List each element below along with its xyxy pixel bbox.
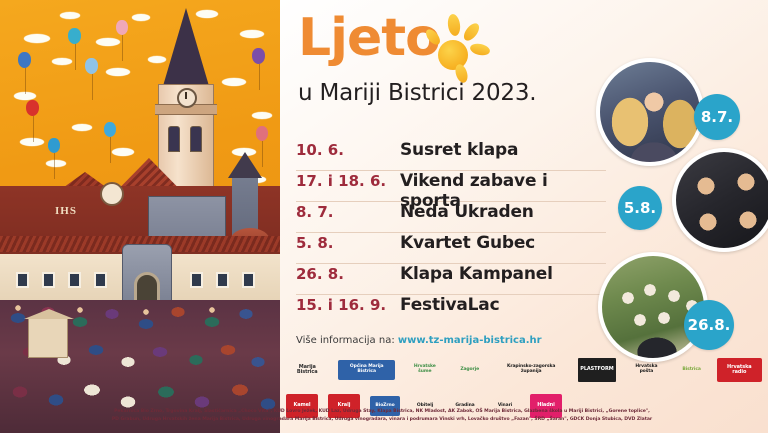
cloud-icon xyxy=(132,14,150,21)
list-item[interactable]: 26. 8. Klapa Kampanel xyxy=(296,264,606,295)
ihs-monogram: IHS xyxy=(55,205,77,217)
event-date: 17. i 18. 6. xyxy=(296,172,400,190)
tower-window xyxy=(168,126,180,152)
photo-kvartet-gubec xyxy=(672,148,768,252)
building-window xyxy=(216,272,229,288)
cloud-icon xyxy=(240,30,264,38)
sun-ray xyxy=(423,27,442,47)
poster-header: Ljeto u Mariji Bistrici 2023. xyxy=(298,12,628,106)
date-badge-kvartet-gubec: 5.8. xyxy=(618,186,662,230)
event-title: Klapa Kampanel xyxy=(400,264,553,284)
balloon-icon xyxy=(116,20,128,35)
balloon-icon xyxy=(18,52,31,68)
list-item[interactable]: 17. i 18. 6. Vikend zabave i sporta xyxy=(296,171,606,202)
cloud-icon xyxy=(24,34,50,43)
more-info-label: Više informacija na: xyxy=(296,335,395,346)
sponsor-logo[interactable]: Hrvatska radio xyxy=(717,358,762,382)
event-date: 10. 6. xyxy=(296,141,400,159)
date-badge-klapa-kampanel: 26.8. xyxy=(684,300,734,350)
building-window xyxy=(190,272,203,288)
event-date: 5. 8. xyxy=(296,234,400,252)
event-title: Susret klapa xyxy=(400,140,518,160)
sponsors-fineprint: Pekarnica Bio Zrno, Trgovina Kralj, Slas… xyxy=(2,408,762,424)
cloud-icon xyxy=(106,68,130,76)
cloud-icon xyxy=(60,12,80,19)
balloon-icon xyxy=(26,100,39,116)
sponsor-logo-row-primary: Marija Bistrica Općina Marija Bistrica H… xyxy=(280,352,768,388)
website-link[interactable]: www.tz-marija-bistrica.hr xyxy=(398,335,542,346)
balloon-icon xyxy=(252,48,265,64)
event-date: 15. i 16. 9. xyxy=(296,296,400,314)
summer-events-poster: IHS Ljeto xyxy=(0,0,768,433)
cloud-icon xyxy=(252,112,272,119)
event-title: FestivaLac xyxy=(400,295,499,315)
page-title: Ljeto xyxy=(298,12,440,64)
tower-window xyxy=(190,126,202,152)
list-item[interactable]: 15. i 16. 9. FestivaLac xyxy=(296,295,606,325)
events-list: 10. 6. Susret klapa 17. i 18. 6. Vikend … xyxy=(296,140,606,325)
sponsor-logo[interactable]: PLASTFORM xyxy=(578,358,617,382)
building-window xyxy=(42,272,55,288)
clock-face-icon xyxy=(177,88,197,108)
rose-window-icon xyxy=(100,182,124,206)
cloud-icon xyxy=(96,38,120,46)
event-date: 26. 8. xyxy=(296,265,400,283)
balloon-icon xyxy=(68,28,81,44)
event-date: 8. 7. xyxy=(296,203,400,221)
date-badge-neda-ukraden: 8.7. xyxy=(694,94,740,140)
building-window xyxy=(16,272,29,288)
artwork-painting: IHS xyxy=(0,0,280,433)
fineprint-line-2: PD Grabun, Udruga Hrvatskih žena Marija … xyxy=(2,416,762,424)
sponsors-band: Marija Bistrica Općina Marija Bistrica H… xyxy=(280,352,768,404)
sponsor-logo[interactable]: Bistrica xyxy=(677,360,707,380)
photo-neda-ukraden xyxy=(596,58,704,166)
more-info-line: Više informacija na: www.tz-marija-bistr… xyxy=(296,335,542,346)
cloud-icon xyxy=(222,78,246,86)
sun-ray xyxy=(447,13,462,36)
cloud-icon xyxy=(112,148,134,156)
event-title: Kvartet Gubec xyxy=(400,233,535,253)
sun-ray xyxy=(469,42,491,57)
fineprint-line-1: Pekarnica Bio Zrno, Trgovina Kralj, Slas… xyxy=(2,408,762,416)
balloon-icon xyxy=(85,58,98,74)
sponsor-logo[interactable]: Marija Bistrica xyxy=(286,360,328,380)
event-title: Neda Ukraden xyxy=(400,202,534,222)
list-item[interactable]: 5. 8. Kvartet Gubec xyxy=(296,233,606,264)
church-spire xyxy=(163,8,209,86)
cloud-icon xyxy=(46,160,66,167)
sponsor-logo[interactable]: Hrvatska pošta xyxy=(626,360,666,380)
sponsor-logo[interactable]: Općina Marija Bistrica xyxy=(338,360,394,380)
balloon-icon xyxy=(48,138,60,153)
sun-ray xyxy=(461,21,482,44)
building-window xyxy=(242,272,255,288)
square-pavilion xyxy=(28,318,68,358)
sponsor-logo[interactable]: Krapinsko-zagorska županija xyxy=(495,360,568,380)
sun-icon xyxy=(422,14,492,84)
cloud-icon xyxy=(52,58,72,65)
building-window xyxy=(68,272,81,288)
building-window xyxy=(94,272,107,288)
cloud-icon xyxy=(72,124,92,131)
balloon-icon xyxy=(256,126,268,141)
sun-ray xyxy=(453,63,469,84)
sponsor-logo[interactable]: Hrvatske šume xyxy=(405,360,445,380)
balloon-icon xyxy=(104,122,116,137)
sponsor-logo[interactable]: Zagorje xyxy=(455,360,485,380)
list-item[interactable]: 10. 6. Susret klapa xyxy=(296,140,606,171)
